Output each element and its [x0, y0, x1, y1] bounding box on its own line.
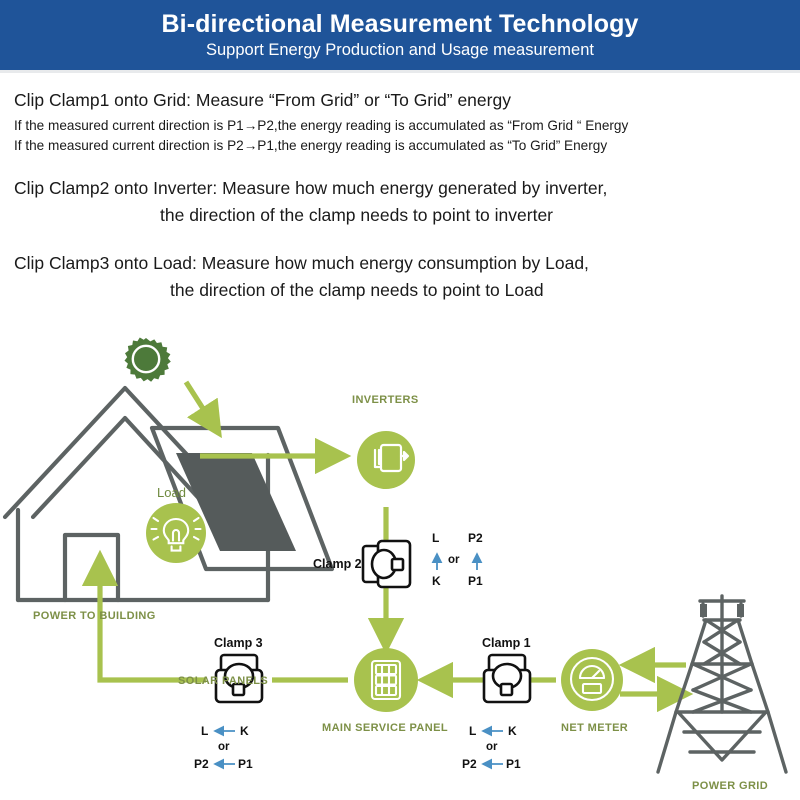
clamp-1-terminal-left-bottom: P2: [462, 757, 477, 771]
clamp-2-icon[interactable]: [363, 541, 410, 587]
clamp1-heading: Clip Clamp1 onto Grid: Measure “From Gri…: [14, 90, 511, 112]
clamp-2-terminal-top-right: P2: [468, 531, 483, 545]
label-power-grid: POWER GRID: [692, 780, 768, 792]
header-divider: [0, 70, 800, 73]
label-clamp-2: Clamp 2: [313, 557, 362, 571]
clamp-3-terminal-right-bottom: P1: [238, 757, 253, 771]
page-subtitle: Support Energy Production and Usage meas…: [206, 41, 594, 59]
clamp-1-icon[interactable]: [484, 655, 530, 702]
lightbulb-icon: [146, 503, 206, 563]
clamp-1-terminal-left-top: L: [469, 724, 476, 738]
clamp-3-terminal-left-bottom: P2: [194, 757, 209, 771]
sun-to-panel-arrow: [186, 382, 218, 432]
clamp-3-terminal-left-top: L: [201, 724, 208, 738]
clamp3-heading: Clip Clamp3 onto Load: Measure how much …: [14, 253, 589, 275]
system-diagram: SOLAR PANELS INVERTERS Load POWER TO BUI…: [0, 320, 800, 800]
label-clamp-3: Clamp 3: [214, 636, 263, 650]
clamp-3-separator: or: [218, 741, 230, 753]
label-power-to-building: POWER TO BUILDING: [33, 610, 156, 622]
clamp2-heading-2: the direction of the clamp needs to poin…: [160, 205, 553, 227]
clamp1-note-2: If the measured current direction is P2→…: [14, 137, 607, 155]
clamp-1-terminal-right-bottom: P1: [506, 757, 521, 771]
meter-gauge-icon: [561, 649, 623, 711]
clamp2-heading: Clip Clamp2 onto Inverter: Measure how m…: [14, 178, 607, 200]
sun-icon: [125, 338, 171, 382]
label-load: Load: [157, 485, 186, 500]
label-main-service-panel: MAIN SERVICE PANEL: [322, 722, 448, 734]
clamp-3-terminal-right-top: K: [240, 724, 249, 738]
inverter-icon: [357, 431, 415, 489]
clamp-2-terminal-top-left: L: [432, 531, 439, 545]
transmission-tower-icon: [658, 596, 786, 772]
clamp-2-terminal-bottom-right: P1: [468, 574, 483, 588]
label-clamp-1: Clamp 1: [482, 636, 531, 650]
clamp3-heading-2: the direction of the clamp needs to poin…: [170, 280, 544, 302]
clamp1-note-1: If the measured current direction is P1→…: [14, 117, 628, 135]
label-solar-panels: SOLAR PANELS: [178, 675, 268, 687]
clamp-2-terminal-bottom-left: K: [432, 574, 441, 588]
label-inverters: INVERTERS: [352, 394, 419, 406]
clamp-2-separator: or: [448, 554, 460, 566]
clamp-1-terminal-right-top: K: [508, 724, 517, 738]
page-title: Bi-directional Measurement Technology: [162, 11, 639, 39]
clamp-1-separator: or: [486, 741, 498, 753]
breaker-panel-icon: [354, 648, 418, 712]
label-net-meter: NET METER: [561, 722, 628, 734]
page-header: Bi-directional Measurement Technology Su…: [0, 0, 800, 70]
